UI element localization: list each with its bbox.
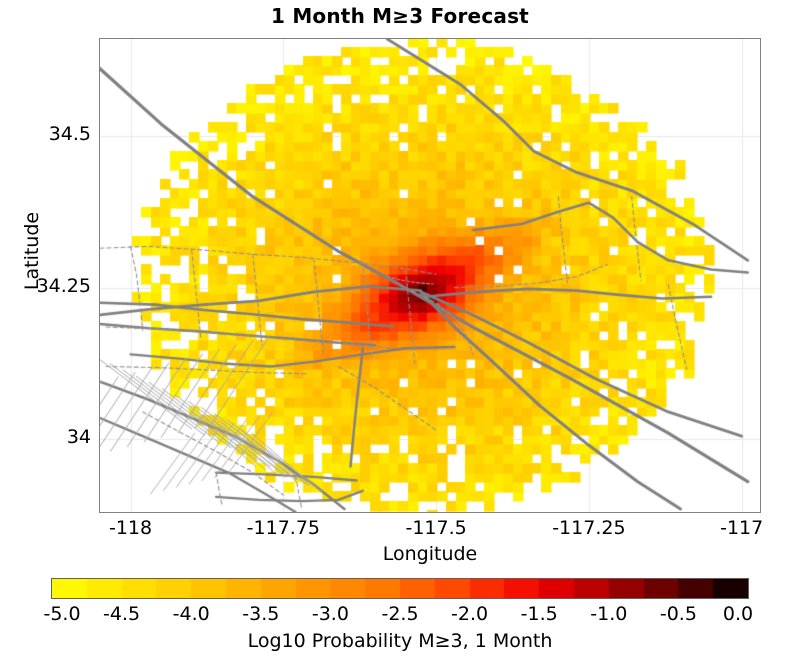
colorbar-tick-label: -2.5	[381, 605, 418, 624]
colorbar-tick-label: -4.0	[173, 605, 210, 624]
x-tick-label: -118	[109, 519, 152, 538]
colorbar-tick-label: -1.0	[590, 605, 627, 624]
colorbar-tick-label: -5.0	[43, 605, 80, 624]
colorbar-label: Log10 Probability M≥3, 1 Month	[51, 630, 749, 652]
y-tick-label: 34	[67, 428, 91, 447]
roads-overlay-layer	[100, 39, 760, 512]
figure-canvas: 1 Month M≥3 Forecast 34.534.2534 -118-11…	[0, 0, 800, 661]
colorbar-tick-label: 0.0	[723, 605, 753, 624]
colorbar-tick-label: -3.5	[242, 605, 279, 624]
y-tick-label: 34.25	[37, 277, 91, 296]
map-plot-area[interactable]	[99, 38, 761, 513]
colorbar-tick-label: -4.5	[103, 605, 140, 624]
colorbar[interactable]	[51, 578, 749, 599]
y-tick-label: 34.5	[49, 125, 91, 144]
x-tick-label: -117	[720, 519, 763, 538]
x-tick-label: -117.5	[405, 519, 466, 538]
page-title: 1 Month M≥3 Forecast	[0, 3, 800, 29]
x-axis-label: Longitude	[99, 543, 761, 565]
colorbar-tick-label: -3.0	[312, 605, 349, 624]
x-tick-label: -117.25	[552, 519, 625, 538]
x-tick-label: -117.75	[247, 519, 320, 538]
colorbar-tick-label: -0.5	[660, 605, 697, 624]
colorbar-gradient	[52, 579, 748, 598]
colorbar-tick-label: -1.5	[521, 605, 558, 624]
colorbar-tick-label: -2.0	[451, 605, 488, 624]
y-axis-label: Latitude	[21, 181, 43, 321]
